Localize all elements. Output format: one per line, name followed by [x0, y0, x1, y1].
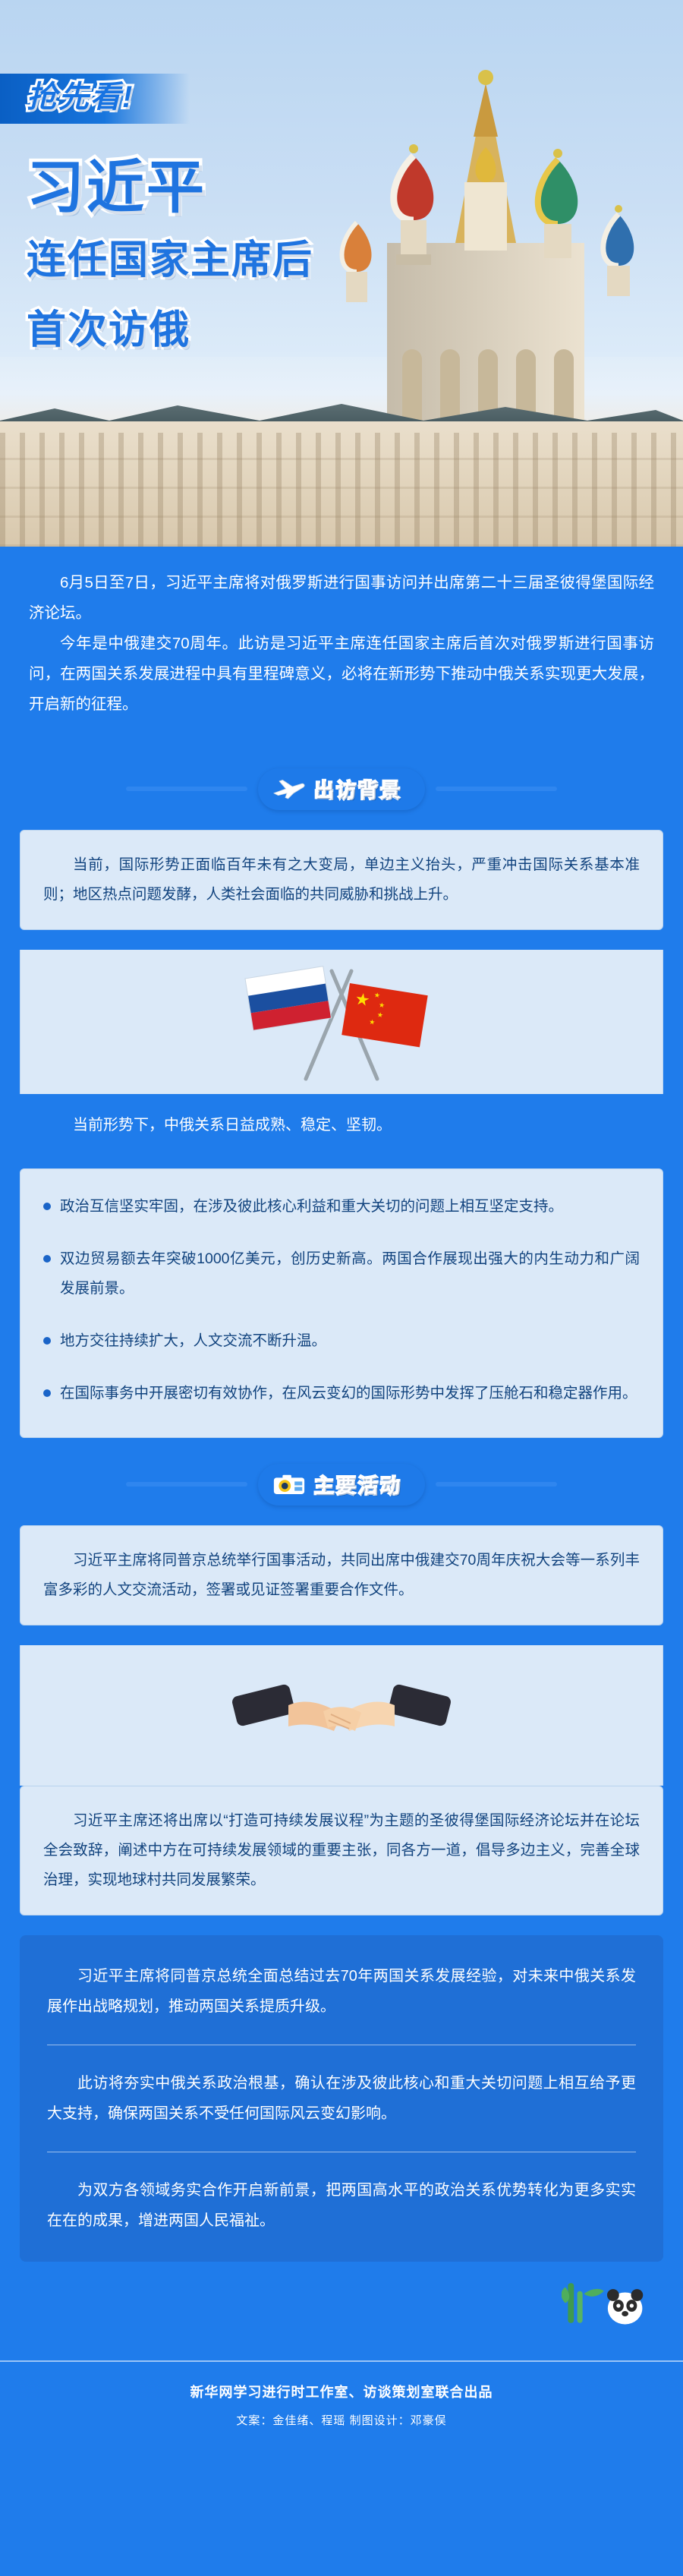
hero-banner: 抢先看! 习近平 连任国家主席后 首次访俄: [0, 0, 683, 547]
section-header-activities: 主要活动: [0, 1464, 683, 1506]
page-title: 习近平: [27, 140, 206, 224]
activities-text-2: 习近平主席还将出席以“打造可持续发展议程”为主题的圣彼得堡国际经济论坛并在论坛全…: [43, 1806, 640, 1895]
flags-illustration: ★ ★ ★ ★ ★: [20, 950, 663, 1094]
infographic-page: 抢先看! 习近平 连任国家主席后 首次访俄 6月5日至7日，习近平主席将对俄罗斯…: [0, 0, 683, 2576]
activities-card-1: 习近平主席将同普京总统举行国事活动，共同出席中俄建交70周年庆祝大会等一系列丰富…: [20, 1525, 663, 1625]
outcome-paragraph: 此访将夯实中俄关系政治根基，确认在涉及彼此核心和重大关切问题上相互给予更大支持，…: [47, 2068, 636, 2129]
outcome-paragraph: 习近平主席将同普京总统全面总结过去70年两国关系发展经验，对未来中俄关系发展作出…: [47, 1961, 636, 2022]
rule-left: [126, 1482, 247, 1487]
intro-block: 6月5日至7日，习近平主席将对俄罗斯进行国事访问并出席第二十三届圣彼得堡国际经济…: [0, 547, 683, 743]
bullet-text: 在国际事务中开展密切有效协作，在风云变幻的国际形势中发挥了压舱石和稳定器作用。: [60, 1379, 637, 1408]
footer-credits: 文案：金佳绪、程瑶 制图设计：邓豪俣: [0, 2412, 683, 2428]
handshake-icon: [228, 1658, 455, 1772]
bullet-text: 地方交往持续扩大，人文交流不断升温。: [60, 1326, 326, 1356]
divider: [47, 2045, 636, 2045]
background-bullet-card: 政治互信坚实牢固，在涉及彼此核心利益和重大关切的问题上相互坚定支持。 双边贸易额…: [20, 1168, 663, 1438]
activities-text-1: 习近平主席将同普京总统举行国事活动，共同出席中俄建交70周年庆祝大会等一系列丰富…: [43, 1546, 640, 1605]
bullet-dot-icon: [43, 1255, 51, 1263]
panda-bamboo-icon: [562, 2274, 653, 2327]
bullet-text: 双边贸易额去年突破1000亿美元，创历史新高。两国合作展现出强大的内生动力和广阔…: [60, 1244, 640, 1304]
relations-statement-text: 当前形势下，中俄关系日益成熟、稳定、坚韧。: [42, 1111, 641, 1140]
footer-producer: 新华网学习进行时工作室、访谈策划室联合出品: [0, 2382, 683, 2401]
intro-paragraph: 6月5日至7日，习近平主席将对俄罗斯进行国事访问并出席第二十三届圣彼得堡国际经济…: [29, 568, 654, 629]
russia-china-crossed-flags-icon: ★ ★ ★ ★ ★: [216, 957, 467, 1086]
svg-text:★: ★: [378, 1001, 386, 1009]
rule-right: [436, 787, 557, 791]
bullet-dot-icon: [43, 1389, 51, 1397]
section-pill-activities: 主要活动: [258, 1464, 425, 1506]
list-item: 政治互信坚实牢固，在涉及彼此核心利益和重大关切的问题上相互坚定支持。: [43, 1192, 640, 1222]
subtitle-line-2: 首次访俄: [27, 298, 190, 355]
subtitle-line-1: 连任国家主席后: [27, 228, 313, 285]
preview-badge: 抢先看!: [27, 72, 134, 116]
decoration-strip: [0, 2262, 683, 2330]
handshake-illustration: [20, 1645, 663, 1786]
bullet-dot-icon: [43, 1203, 51, 1210]
activities-card-2: 习近平主席还将出席以“打造可持续发展议程”为主题的圣彼得堡国际经济论坛并在论坛全…: [20, 1786, 663, 1915]
camera-icon: [272, 1471, 307, 1497]
section-title-activities: 主要活动: [314, 1471, 402, 1499]
svg-text:★: ★: [369, 1018, 376, 1026]
svg-text:★: ★: [354, 988, 371, 1010]
bamboo-icon: [562, 2283, 604, 2323]
divider: [47, 2152, 636, 2152]
outcome-paragraph: 为双方各领域务实合作开启新前景，把两国高水平的政治关系优势转化为更多实实在在的成…: [47, 2175, 636, 2236]
gum-department-store: [0, 421, 683, 547]
svg-text:★: ★: [376, 1011, 384, 1019]
section-pill-background: 出访背景: [258, 768, 425, 810]
relations-statement-band: 当前形势下，中俄关系日益成熟、稳定、坚韧。: [20, 1094, 663, 1156]
footer: 新华网学习进行时工作室、访谈策划室联合出品 文案：金佳绪、程瑶 制图设计：邓豪俣: [0, 2360, 683, 2454]
section-header-background: 出访背景: [0, 768, 683, 810]
list-item: 地方交往持续扩大，人文交流不断升温。: [43, 1326, 640, 1356]
rule-left: [126, 787, 247, 791]
svg-text:★: ★: [373, 991, 381, 999]
panda-icon: [607, 2289, 643, 2324]
background-intro-card: 当前，国际形势正面临百年未有之大变局，单边主义抬头，严重冲击国际关系基本准则；地…: [20, 830, 663, 930]
bullet-text: 政治互信坚实牢固，在涉及彼此核心利益和重大关切的问题上相互坚定支持。: [60, 1192, 563, 1222]
rule-right: [436, 1482, 557, 1487]
intro-paragraph: 今年是中俄建交70周年。此访是习近平主席连任国家主席后首次对俄罗斯进行国事访问，…: [29, 629, 654, 720]
bullet-dot-icon: [43, 1337, 51, 1345]
outcome-panel: 习近平主席将同普京总统全面总结过去70年两国关系发展经验，对未来中俄关系发展作出…: [20, 1935, 663, 2262]
list-item: 双边贸易额去年突破1000亿美元，创历史新高。两国合作展现出强大的内生动力和广阔…: [43, 1244, 640, 1304]
background-intro-text: 当前，国际形势正面临百年未有之大变局，单边主义抬头，严重冲击国际关系基本准则；地…: [43, 850, 640, 910]
airplane-icon: [272, 776, 307, 802]
list-item: 在国际事务中开展密切有效协作，在风云变幻的国际形势中发挥了压舱石和稳定器作用。: [43, 1379, 640, 1408]
section-title-background: 出访背景: [314, 775, 402, 803]
building-windows: [0, 433, 683, 547]
